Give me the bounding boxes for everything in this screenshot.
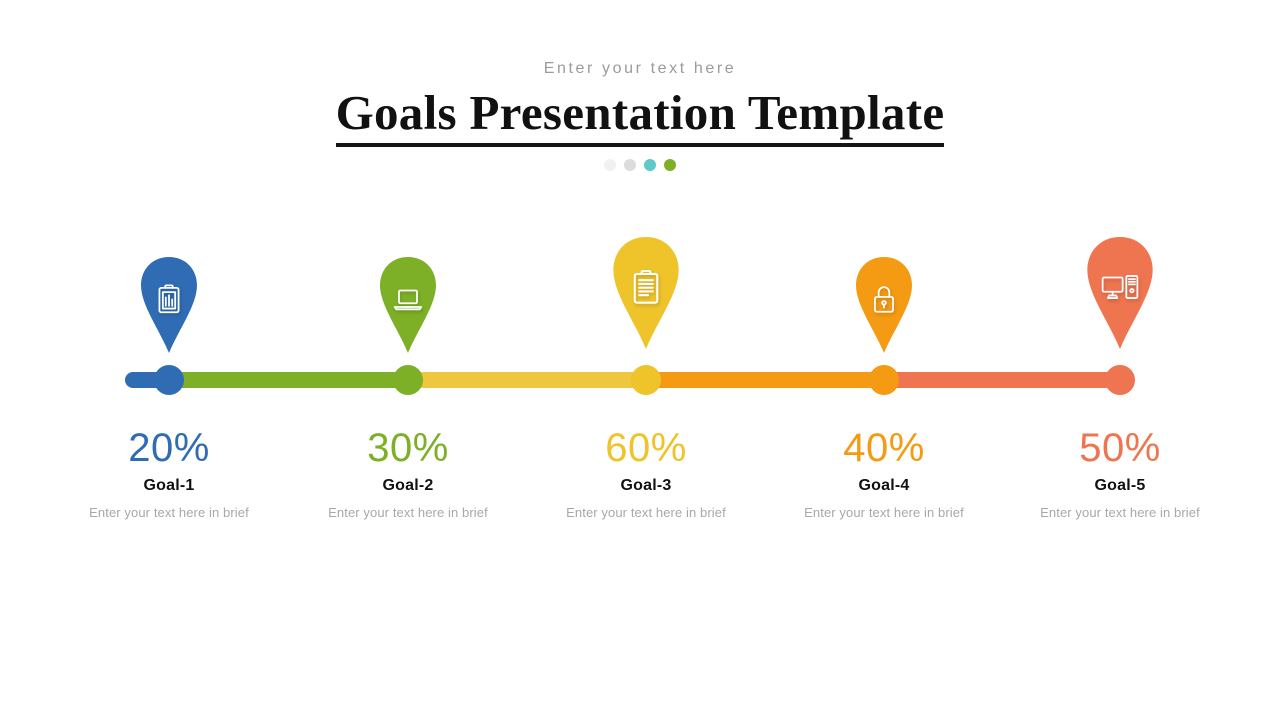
clipboard-chart-icon [152, 282, 186, 316]
percent-goal-5: 50% [990, 425, 1250, 471]
timeline-pin-goal-1[interactable] [133, 257, 205, 353]
caption-goal-3: 60% Goal-3 Enter your text here in brief [516, 425, 776, 522]
percent-goal-3: 60% [516, 425, 776, 471]
caption-goal-4: 40% Goal-4 Enter your text here in brief [754, 425, 1014, 522]
timeline-track [125, 372, 1125, 388]
segment-1-to-2 [169, 372, 408, 388]
segment-4-to-5 [884, 372, 1128, 388]
desktop-computer-icon [1100, 267, 1140, 307]
segment-3-to-4 [646, 372, 884, 388]
percent-goal-1: 20% [39, 425, 299, 471]
clipboard-list-icon [626, 267, 666, 307]
dot-2 [624, 159, 636, 171]
goal-label-goal-3: Goal-3 [516, 475, 776, 497]
brief-goal-3: Enter your text here in brief [516, 504, 776, 522]
timeline-node-goal-4[interactable] [869, 365, 899, 395]
decorative-dots [0, 159, 1280, 171]
page-title: Goals Presentation Template [336, 87, 945, 139]
brief-goal-1: Enter your text here in brief [39, 504, 299, 522]
dot-1 [604, 159, 616, 171]
timeline-pin-goal-3[interactable] [604, 237, 688, 349]
timeline-pin-goal-2[interactable] [372, 257, 444, 353]
laptop-icon [391, 282, 425, 316]
goal-label-goal-5: Goal-5 [990, 475, 1250, 497]
percent-goal-2: 30% [278, 425, 538, 471]
page-subtitle: Enter your text here [0, 58, 1280, 80]
caption-goal-5: 50% Goal-5 Enter your text here in brief [990, 425, 1250, 522]
percent-goal-4: 40% [754, 425, 1014, 471]
timeline-node-goal-2[interactable] [393, 365, 423, 395]
goal-label-goal-2: Goal-2 [278, 475, 538, 497]
caption-goal-1: 20% Goal-1 Enter your text here in brief [39, 425, 299, 522]
timeline-node-goal-1[interactable] [154, 365, 184, 395]
timeline-node-goal-5[interactable] [1105, 365, 1135, 395]
caption-goal-2: 30% Goal-2 Enter your text here in brief [278, 425, 538, 522]
page-header: Enter your text here Goals Presentation … [0, 0, 1280, 171]
page-title-underline: Goals Presentation Template [336, 87, 945, 147]
segment-2-to-3 [408, 372, 646, 388]
dot-3 [644, 159, 656, 171]
timeline-pin-goal-4[interactable] [848, 257, 920, 353]
brief-goal-5: Enter your text here in brief [990, 504, 1250, 522]
timeline-node-goal-3[interactable] [631, 365, 661, 395]
goal-label-goal-4: Goal-4 [754, 475, 1014, 497]
brief-goal-2: Enter your text here in brief [278, 504, 538, 522]
padlock-icon [867, 282, 901, 316]
goals-captions: 20% Goal-1 Enter your text here in brief… [0, 425, 1280, 535]
timeline-pin-goal-5[interactable] [1078, 237, 1162, 349]
goal-label-goal-1: Goal-1 [39, 475, 299, 497]
brief-goal-4: Enter your text here in brief [754, 504, 1014, 522]
dot-4 [664, 159, 676, 171]
